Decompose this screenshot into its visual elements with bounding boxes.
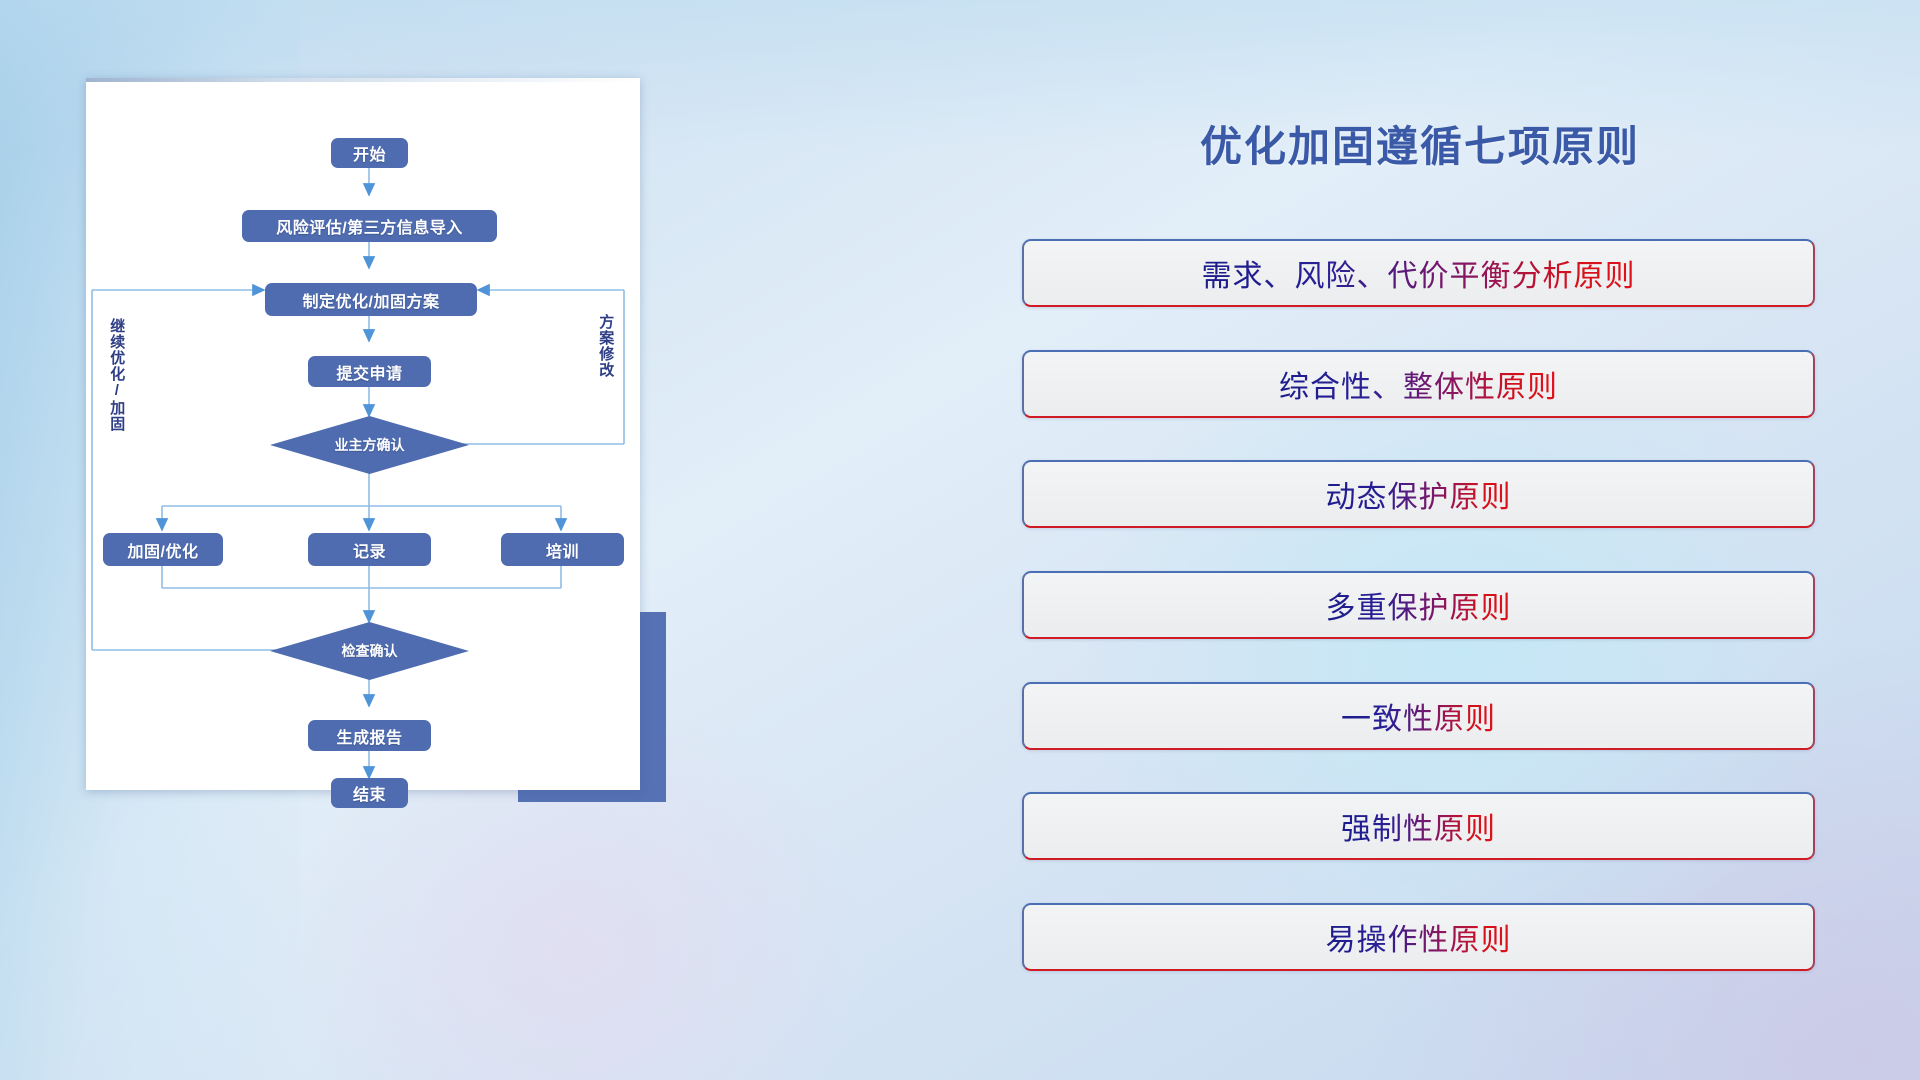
flow-node-risk-assessment: 风险评估/第三方信息导入 bbox=[242, 210, 497, 242]
flow-node-start: 开始 bbox=[331, 138, 408, 168]
principle-item-4[interactable]: 多重保护原则 bbox=[1022, 571, 1815, 639]
principle-label: 易操作性原则 bbox=[1326, 915, 1512, 959]
principle-item-5[interactable]: 一致性原则 bbox=[1022, 682, 1815, 750]
principle-label: 强制性原则 bbox=[1341, 804, 1496, 848]
principle-item-2[interactable]: 综合性、整体性原则 bbox=[1022, 350, 1815, 418]
edge-label-plan-revision: 方案修改 bbox=[598, 314, 613, 424]
flow-node-label: 业主方确认 bbox=[335, 435, 405, 455]
principle-label: 动态保护原则 bbox=[1326, 472, 1512, 516]
principle-label: 需求、风险、代价平衡分析原则 bbox=[1202, 251, 1636, 295]
flow-node-training: 培训 bbox=[501, 533, 624, 566]
principle-item-7[interactable]: 易操作性原则 bbox=[1022, 903, 1815, 971]
principle-label: 综合性、整体性原则 bbox=[1279, 362, 1558, 406]
flow-node-submit-application: 提交申请 bbox=[308, 356, 431, 387]
edge-label-continue-optimize: 继续优化/加固 bbox=[109, 318, 124, 458]
flow-node-end: 结束 bbox=[331, 778, 408, 808]
flow-node-reinforce-optimize: 加固/优化 bbox=[103, 533, 223, 566]
flow-node-check-confirm: 检查确认 bbox=[270, 622, 469, 680]
flow-node-label: 记录 bbox=[353, 538, 386, 562]
flow-node-label: 结束 bbox=[353, 781, 386, 805]
flow-node-label: 提交申请 bbox=[336, 360, 402, 384]
principle-label: 多重保护原则 bbox=[1326, 583, 1512, 627]
flow-node-label: 风险评估/第三方信息导入 bbox=[276, 214, 462, 238]
principles-panel: 优化加固遵循七项原则 需求、风险、代价平衡分析原则 综合性、整体性原则 动态保护… bbox=[1020, 0, 1880, 1080]
flowchart: 开始 风险评估/第三方信息导入 制定优化/加固方案 提交申请 业主方确认 加固/… bbox=[86, 78, 640, 790]
principle-item-6[interactable]: 强制性原则 bbox=[1022, 792, 1815, 860]
flow-node-label: 检查确认 bbox=[342, 641, 398, 661]
principle-label: 一致性原则 bbox=[1341, 694, 1496, 738]
flow-node-label: 制定优化/加固方案 bbox=[303, 288, 440, 312]
principle-item-1[interactable]: 需求、风险、代价平衡分析原则 bbox=[1022, 239, 1815, 307]
flowchart-card: 开始 风险评估/第三方信息导入 制定优化/加固方案 提交申请 业主方确认 加固/… bbox=[86, 78, 640, 790]
flow-node-label: 加固/优化 bbox=[128, 538, 199, 562]
flow-node-label: 生成报告 bbox=[336, 724, 402, 748]
flow-node-generate-report: 生成报告 bbox=[308, 720, 431, 751]
panel-title: 优化加固遵循七项原则 bbox=[1020, 113, 1820, 174]
principle-item-3[interactable]: 动态保护原则 bbox=[1022, 460, 1815, 528]
flow-node-record: 记录 bbox=[308, 533, 431, 566]
flow-node-label: 开始 bbox=[353, 141, 386, 165]
flow-node-owner-confirm: 业主方确认 bbox=[270, 416, 469, 474]
flow-node-label: 培训 bbox=[546, 538, 579, 562]
flow-node-plan: 制定优化/加固方案 bbox=[265, 283, 477, 316]
